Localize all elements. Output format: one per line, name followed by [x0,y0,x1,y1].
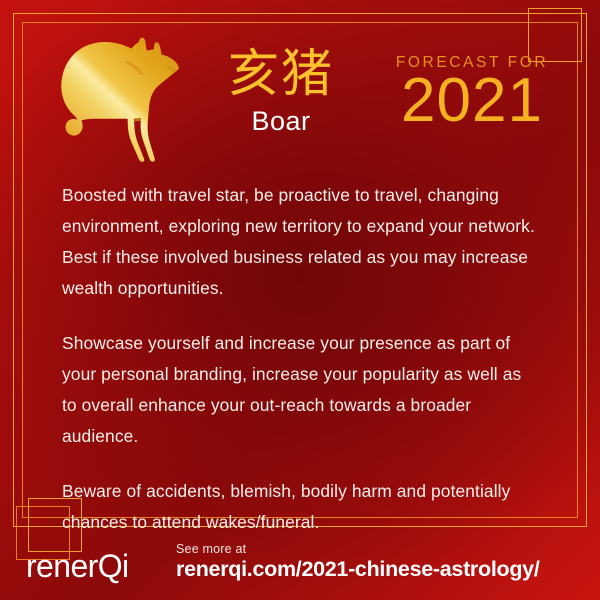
see-more-label: See more at [176,542,540,556]
zodiac-forecast-card: 亥猪 Boar FORECAST FOR 2021 Boosted with t… [0,0,600,600]
brand-logo: renerQi [26,548,129,585]
forecast-body: Boosted with travel star, be proactive t… [62,180,540,538]
website-url[interactable]: renerqi.com/2021-chinese-astrology/ [176,557,540,582]
forecast-year: 2021 [382,68,562,133]
see-more-block: See more at renerqi.com/2021-chinese-ast… [176,542,540,582]
boar-icon [42,26,182,172]
card-header: 亥猪 Boar FORECAST FOR 2021 [0,0,600,175]
forecast-paragraph: Beware of accidents, blemish, bodily har… [62,476,540,538]
forecast-block: FORECAST FOR 2021 [382,54,562,133]
card-footer: renerQi See more at renerqi.com/2021-chi… [0,540,600,600]
zodiac-name-block: 亥猪 Boar [186,48,376,137]
forecast-paragraph: Boosted with travel star, be proactive t… [62,180,540,304]
forecast-paragraph: Showcase yourself and increase your pres… [62,328,540,452]
zodiac-english-label: Boar [186,106,376,137]
zodiac-chinese-label: 亥猪 [186,48,376,102]
